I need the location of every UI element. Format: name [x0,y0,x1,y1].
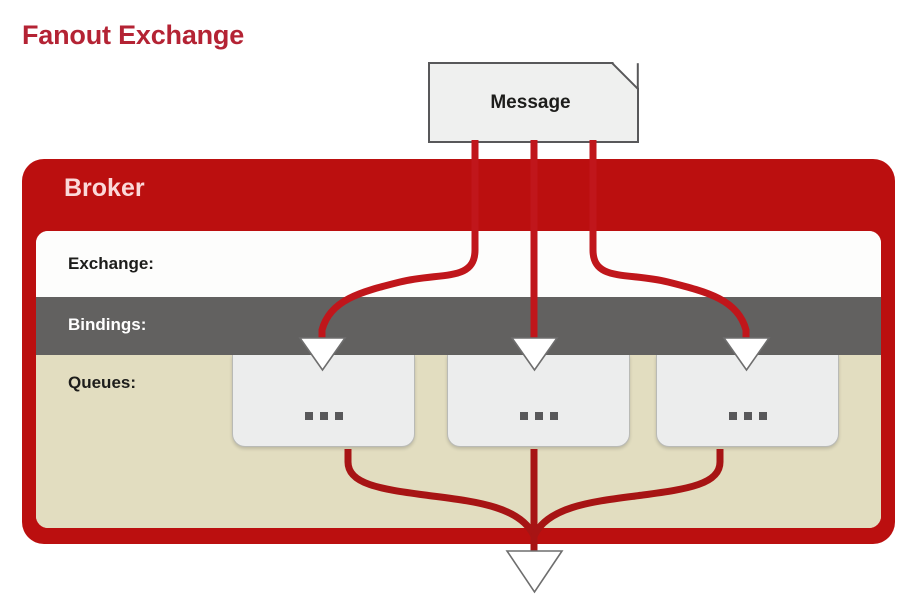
queue-content-dots-3 [657,412,838,420]
queues-row-label: Queues: [68,373,136,393]
queue-content-dots-1 [233,412,414,420]
queue-content-dots-2 [448,412,629,420]
message-document-box[interactable]: Message [428,62,639,143]
queue-box-3[interactable] [656,355,839,447]
exchange-row: Exchange: [36,231,881,297]
bindings-row-label: Bindings: [68,315,146,335]
exchange-row-label: Exchange: [68,254,154,274]
page-title: Fanout Exchange [22,20,244,51]
queue-box-2[interactable] [447,355,630,447]
queue-box-1[interactable] [232,355,415,447]
message-label: Message [428,62,639,143]
diagram-canvas: Fanout Exchange Broker Exchange: Binding… [0,0,916,598]
broker-container: Broker Exchange: Bindings: Queues: [22,159,895,544]
broker-title: Broker [64,174,145,203]
bindings-row: Bindings: [36,297,881,355]
arrowhead-consumer-output [507,551,562,592]
